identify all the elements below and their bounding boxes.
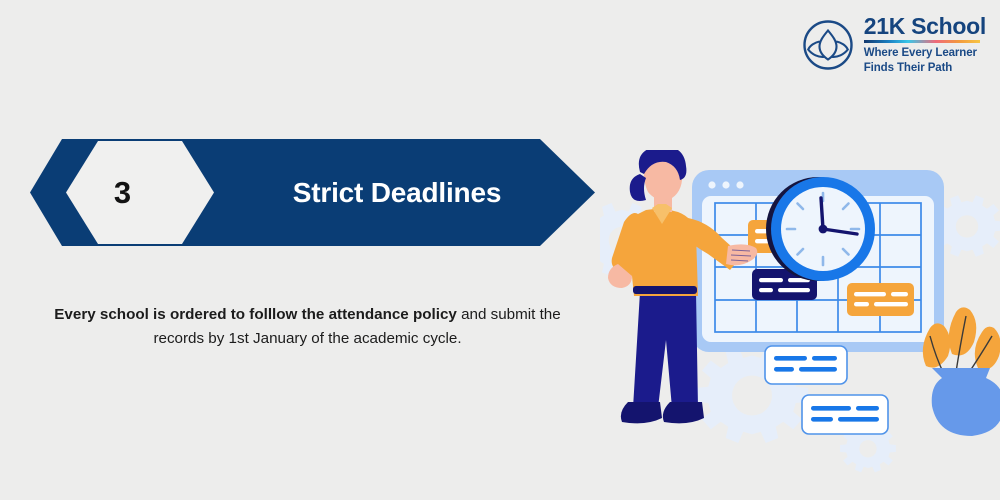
- step-banner: 3 Strict Deadlines: [30, 139, 595, 246]
- logo-tagline-line2: Finds Their Path: [864, 62, 953, 74]
- logo-name: 21K School: [864, 14, 986, 38]
- logo-tagline: Where Every Learner Finds Their Path: [864, 46, 986, 75]
- lotus-in-circle-icon: [802, 19, 854, 71]
- potted-plant-icon: [923, 307, 1000, 436]
- body-bold-text: Every school is ordered to folllow the a…: [54, 306, 457, 323]
- logo-tagline-line1: Where Every Learner: [864, 47, 977, 59]
- orange-card-right: [847, 283, 914, 316]
- white-card-bottom: [802, 395, 888, 434]
- step-number: 3: [30, 139, 215, 246]
- brand-logo: 21K School Where Every Learner Finds The…: [802, 14, 986, 76]
- wall-clock-icon: [766, 177, 875, 281]
- illustration: [600, 150, 1000, 480]
- body-paragraph: Every school is ordered to folllow the a…: [45, 303, 570, 350]
- white-card-lower: [765, 346, 847, 384]
- step-title: Strict Deadlines: [212, 139, 582, 246]
- logo-gradient-rule: [864, 40, 980, 43]
